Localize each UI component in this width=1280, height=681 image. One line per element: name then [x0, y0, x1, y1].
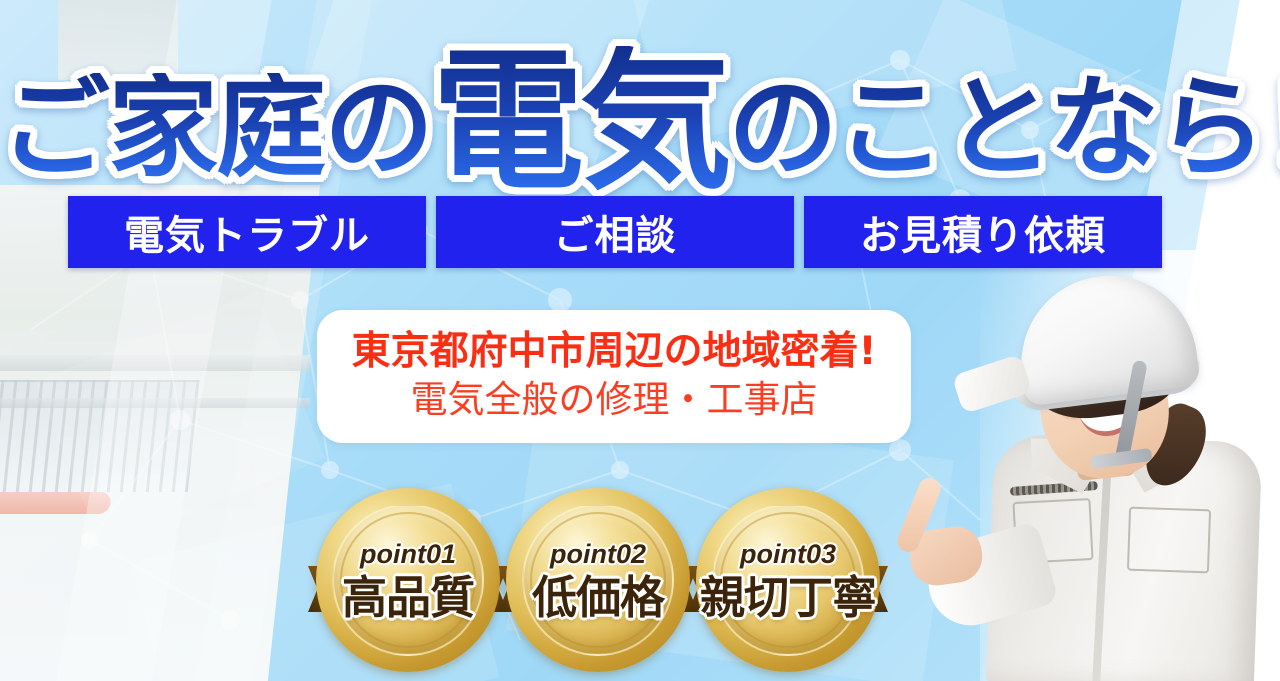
photo-counter-line — [0, 355, 310, 371]
worker-sleeve-cuff — [952, 354, 1033, 414]
worker-pointing-hand — [904, 476, 990, 572]
page-title: ご家庭の電気のことなら！ — [0, 38, 1280, 190]
headline-part-before: ご家庭の — [0, 73, 432, 183]
callout-box: 東京都府中市周辺の地域密着! 電気全般の修理・工事店 — [317, 310, 911, 443]
service-button-consultation[interactable]: ご相談 — [436, 196, 794, 268]
headline-part-emphasis: 電気 — [432, 46, 728, 198]
service-button-trouble[interactable]: 電気トラブル — [68, 196, 426, 268]
medal-labels: point02 低価格 — [506, 488, 690, 672]
medal-point-label: point03 — [740, 541, 836, 568]
callout-line-2: 電気全般の修理・工事店 — [411, 378, 818, 422]
medal-point02[interactable]: point02 低価格 — [506, 488, 690, 672]
service-button-quote-request[interactable]: お見積り依頼 — [804, 196, 1162, 268]
medal-feature-label: 低価格 — [532, 575, 664, 620]
medal-point01[interactable]: point01 高品質 — [316, 488, 500, 672]
medal-feature-label: 親切丁寧 — [700, 575, 876, 620]
service-button-row: 電気トラブル ご相談 お見積り依頼 — [68, 196, 1162, 268]
callout-line-1: 東京都府中市周辺の地域密着! — [352, 330, 877, 374]
worker-portrait — [912, 268, 1280, 681]
medal-feature-label: 高品質 — [342, 575, 474, 620]
medal-labels: point01 高品質 — [316, 488, 500, 672]
worker-helmet — [1011, 266, 1200, 407]
photo-counter-line-2 — [0, 398, 310, 408]
medal-labels: point03 親切丁寧 — [696, 488, 880, 672]
hero-banner: ご家庭の電気のことなら！ 電気トラブル ご相談 お見積り依頼 東京都府中市周辺の… — [0, 0, 1280, 681]
headline-part-after: のことなら！ — [728, 73, 1280, 183]
medal-point-label: point01 — [360, 541, 456, 568]
worker-pocket-right — [1127, 507, 1211, 574]
medal-point03[interactable]: point03 親切丁寧 — [696, 488, 880, 672]
polygon-facet — [35, 292, 325, 549]
medal-point-label: point02 — [550, 541, 646, 568]
